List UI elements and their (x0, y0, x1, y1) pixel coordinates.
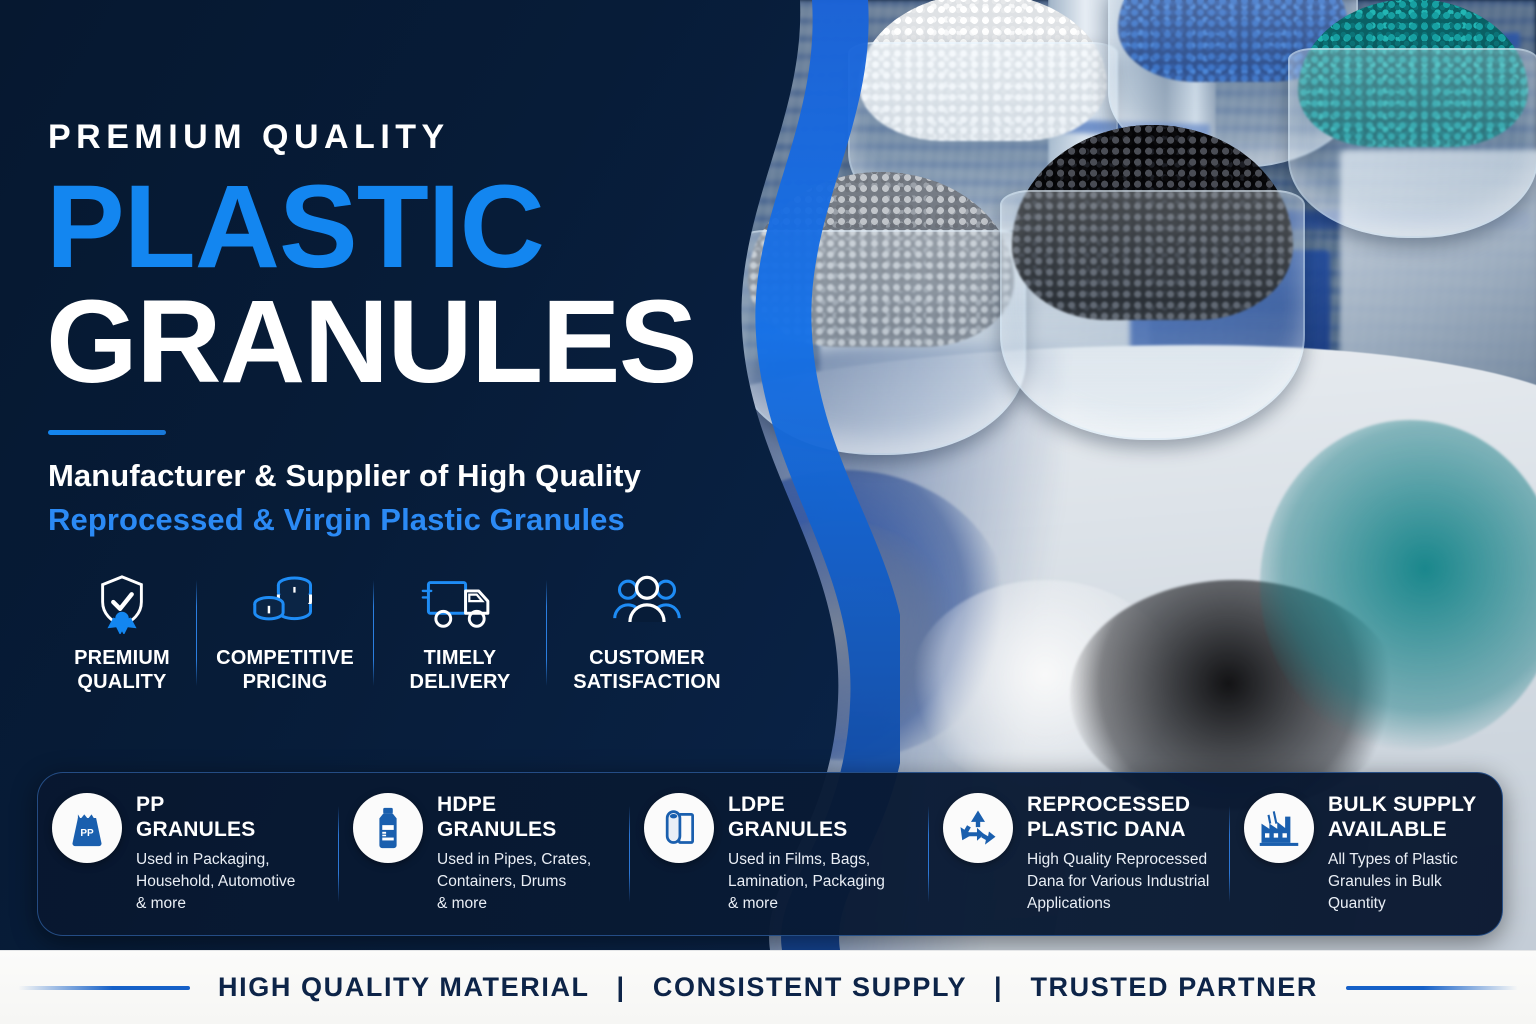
product-card-text: LDPE GRANULES Used in Films, Bags, Lamin… (728, 793, 885, 916)
product-title: PP GRANULES (136, 793, 295, 843)
hero-title-line1: PLASTIC (46, 168, 544, 286)
customer-group-icon (547, 572, 747, 634)
product-title: BULK SUPPLY AVAILABLE (1328, 793, 1476, 843)
feature-customer-satisfaction: CUSTOMER SATISFACTION (547, 572, 747, 712)
shield-check-badge-icon (48, 572, 196, 634)
product-title: REPROCESSED PLASTIC DANA (1027, 793, 1209, 843)
recycle-icon (943, 793, 1013, 863)
product-card-ldpe[interactable]: LDPE GRANULES Used in Films, Bags, Lamin… (630, 793, 928, 916)
hero-accent-rule (48, 430, 166, 435)
hero-subtitle-line2: Reprocessed & Virgin Plastic Granules (48, 502, 625, 538)
product-card-bulk-supply[interactable]: BULK SUPPLY AVAILABLE All Types of Plast… (1230, 793, 1502, 916)
feature-timely-delivery: TIMELY DELIVERY (374, 572, 546, 712)
coins-stack-icon (197, 572, 373, 634)
black-granules-bowl (1000, 190, 1305, 440)
product-description: Used in Packaging, Household, Automotive… (136, 849, 295, 915)
svg-text:PP: PP (80, 828, 94, 839)
product-card-text: PP GRANULES Used in Packaging, Household… (136, 793, 295, 916)
hero-subtitle-line1: Manufacturer & Supplier of High Quality (48, 458, 641, 494)
footer-rule-right (1346, 986, 1518, 990)
hero-eyebrow: PREMIUM QUALITY (48, 118, 450, 157)
sack-pp-icon: PP (52, 793, 122, 863)
product-card-pp[interactable]: PP PP GRANULES Used in Packaging, Househ… (38, 793, 338, 916)
factory-icon (1244, 793, 1314, 863)
product-card-text: BULK SUPPLY AVAILABLE All Types of Plast… (1328, 793, 1476, 916)
footer-tagline: HIGH QUALITY MATERIAL | CONSISTENT SUPPL… (218, 972, 1318, 1003)
product-card-reprocessed-dana[interactable]: REPROCESSED PLASTIC DANA High Quality Re… (929, 793, 1229, 916)
feature-label: CUSTOMER SATISFACTION (547, 646, 747, 695)
product-card-text: REPROCESSED PLASTIC DANA High Quality Re… (1027, 793, 1209, 916)
film-roll-icon (644, 793, 714, 863)
product-description: Used in Films, Bags, Lamination, Packagi… (728, 849, 885, 915)
footer-rule-left (18, 986, 190, 990)
feature-label: TIMELY DELIVERY (374, 646, 546, 695)
delivery-truck-icon (374, 572, 546, 634)
glass-bowl (1288, 48, 1536, 238)
product-cards-panel: PP PP GRANULES Used in Packaging, Househ… (37, 772, 1503, 936)
feature-competitive-pricing: COMPETITIVE PRICING (197, 572, 373, 712)
feature-strip: PREMIUM QUALITY COMPETITI (48, 572, 758, 712)
bottle-icon (353, 793, 423, 863)
product-description: Used in Pipes, Crates, Containers, Drums… (437, 849, 591, 915)
hero-title-line2: GRANULES (46, 283, 696, 401)
product-card-text: HDPE GRANULES Used in Pipes, Crates, Con… (437, 793, 591, 916)
product-description: High Quality Reprocessed Dana for Variou… (1027, 849, 1209, 915)
product-description: All Types of Plastic Granules in Bulk Qu… (1328, 849, 1476, 915)
feature-label: COMPETITIVE PRICING (197, 646, 373, 695)
teal-granules-bowl (1288, 48, 1536, 238)
product-title: HDPE GRANULES (437, 793, 591, 843)
feature-label: PREMIUM QUALITY (48, 646, 196, 695)
glass-bowl (1000, 190, 1305, 440)
product-title: LDPE GRANULES (728, 793, 885, 843)
feature-premium-quality: PREMIUM QUALITY (48, 572, 196, 712)
footer-bar: HIGH QUALITY MATERIAL | CONSISTENT SUPPL… (0, 950, 1536, 1024)
promotional-banner: PREMIUM QUALITY PLASTIC GRANULES Manufac… (0, 0, 1536, 1024)
product-card-hdpe[interactable]: HDPE GRANULES Used in Pipes, Crates, Con… (339, 793, 629, 916)
